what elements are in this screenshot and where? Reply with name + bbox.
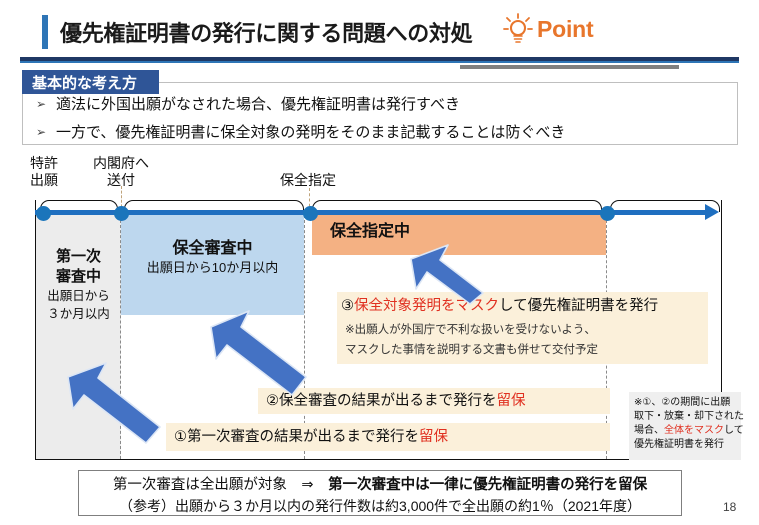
lightbulb-icon <box>503 13 533 45</box>
callout-three-number: ③ <box>341 298 354 314</box>
marker-line1: 特許 <box>14 155 74 172</box>
marker-line2: 出願 <box>14 172 74 189</box>
callout-three: ③保全対象発明をマスクして優先権証明書を発行 ※出願人が外国庁で不利な扱いを受け… <box>337 292 708 364</box>
side-note-box: ※①、②の期間に出願 取下・放棄・却下された 場合、全体をマスクして 優先権証明… <box>629 392 741 460</box>
timeline-marker-label-patent: 特許 出願 <box>14 155 74 189</box>
header-rule-blue <box>20 61 739 63</box>
first-exam-sub-2: ３か月以内 <box>36 305 121 323</box>
title-accent-bar <box>42 15 48 49</box>
page-number: 18 <box>723 500 736 514</box>
callout-two-red: 留保 <box>497 393 526 409</box>
callout-three-note2: マスクした事情を説明する文書も併せて交付予定 <box>337 340 708 360</box>
summary-line-1-pre: 第一次審査は全出願が対象 ⇒ <box>113 477 328 493</box>
timeline-node-2 <box>114 206 129 221</box>
arrow-bullet-icon: ➢ <box>36 120 56 145</box>
list-item: ➢ 適法に外国出願がなされた場合、優先権証明書は発行すべき <box>36 92 726 117</box>
pointer-arrow-three <box>404 241 489 306</box>
summary-box: 第一次審査は全出願が対象 ⇒ 第一次審査中は一律に優先権証明書の発行を留保 （参… <box>78 470 682 516</box>
point-badge: Point <box>503 13 594 45</box>
timeline-node-4 <box>600 206 615 221</box>
callout-one-pre: 第一次審査の結果が出るまで発行を <box>187 429 419 445</box>
side-note-line3: 場合、全体をマスクして <box>634 424 737 438</box>
callout-one-number: ① <box>174 429 187 445</box>
pointer-arrow-one <box>60 355 165 445</box>
summary-line-2: （参考）出願から３か月以内の発行件数は約3,000件で全出願の約1％（2021年… <box>79 496 681 517</box>
marker-line1: 保全指定 <box>272 172 344 189</box>
callout-one: ①第一次審査の結果が出るまで発行を留保 <box>166 423 610 451</box>
timeline-marker-label-cabinet: 内閣府へ 送付 <box>83 155 159 189</box>
side-note-line3-post: して <box>724 425 744 436</box>
first-exam-title-2: 審査中 <box>36 267 121 287</box>
security-review-sub: 出願日から10か月以内 <box>121 259 304 277</box>
callout-three-main: ③保全対象発明をマスクして優先権証明書を発行 <box>337 292 708 317</box>
marker-line1: 内閣府へ <box>83 155 159 172</box>
callout-one-main: ①第一次審査の結果が出るまで発行を留保 <box>166 423 610 448</box>
summary-line-1: 第一次審査は全出願が対象 ⇒ 第一次審査中は一律に優先権証明書の発行を留保 <box>79 474 681 496</box>
concept-item-text: 一方で、優先権証明書に保全対象の発明をそのまま記載することは防ぐべき <box>56 120 565 145</box>
first-exam-title-1: 第一次 <box>36 247 121 267</box>
first-exam-text: 第一次 審査中 出願日から ３か月以内 <box>36 247 121 323</box>
callout-three-rest: して優先権証明書を発行 <box>499 298 658 314</box>
header-rule-gray <box>460 65 679 69</box>
point-label: Point <box>537 16 594 43</box>
slide-root: 優先権証明書の発行に関する問題への対処 Point 基本的な考え方 ➢ <box>0 0 759 525</box>
timeline-node-1 <box>36 206 51 221</box>
side-note-line1: ※①、②の期間に出願 <box>634 396 737 410</box>
security-review-title: 保全審査中 <box>121 239 304 259</box>
timeline-marker-label-designation: 保全指定 <box>272 172 344 189</box>
summary-line-1-bold: 第一次審査中は一律に優先権証明書の発行を留保 <box>328 477 647 493</box>
callout-one-red: 留保 <box>419 429 448 445</box>
timeline-node-3 <box>303 206 318 221</box>
page-title: 優先権証明書の発行に関する問題への対処 <box>60 16 472 48</box>
concept-item-text: 適法に外国出願がなされた場合、優先権証明書は発行すべき <box>56 92 460 117</box>
callout-three-note1: ※出願人が外国庁で不利な扱いを受けないよう、 <box>337 317 708 340</box>
pointer-arrow-two <box>205 305 315 400</box>
side-note-line4: 優先権証明書を発行 <box>634 438 737 452</box>
timeline-arrowhead-icon <box>705 204 719 220</box>
concept-list: ➢ 適法に外国出願がなされた場合、優先権証明書は発行すべき ➢ 一方で、優先権証… <box>36 92 726 148</box>
side-note-line2: 取下・放棄・却下された <box>634 410 737 424</box>
list-item: ➢ 一方で、優先権証明書に保全対象の発明をそのまま記載することは防ぐべき <box>36 120 726 145</box>
slide-title-bar: 優先権証明書の発行に関する問題への対処 <box>42 12 522 52</box>
side-note-line3-red: 全体をマスク <box>664 425 724 436</box>
arrow-bullet-icon: ➢ <box>36 92 56 117</box>
first-exam-sub-1: 出願日から <box>36 287 121 305</box>
concept-tab-label: 基本的な考え方 <box>22 70 159 94</box>
side-note-line3-pre: 場合、 <box>634 425 664 436</box>
security-review-text: 保全審査中 出願日から10か月以内 <box>121 239 304 277</box>
